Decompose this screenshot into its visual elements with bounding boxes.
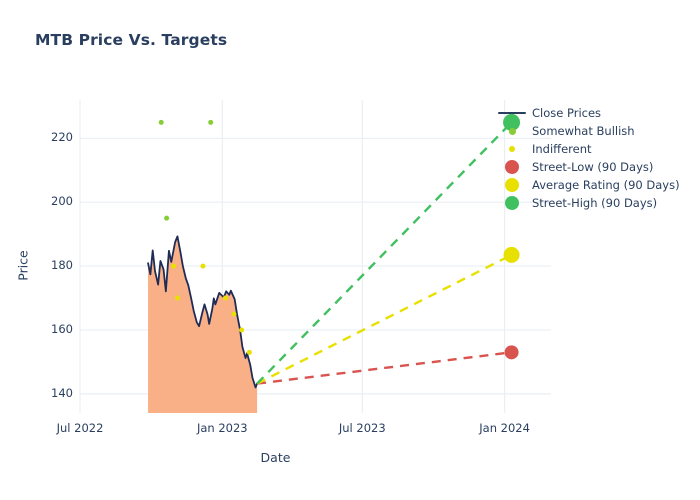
chart-container: MTB Price Vs. Targets 140160180200220 Ju…	[0, 0, 700, 500]
legend-item-label: Street-Low (90 Days)	[528, 160, 653, 174]
x-axis-tick: Jan 2023	[162, 421, 282, 435]
legend-dot-icon	[505, 160, 519, 174]
legend-item[interactable]: Average Rating (90 Days)	[496, 176, 696, 194]
legend-item[interactable]: Somewhat Bullish	[496, 122, 696, 140]
rating-dot[interactable]	[208, 120, 213, 125]
y-axis-tick: 220	[20, 130, 73, 144]
y-axis-tick: 160	[20, 322, 73, 336]
y-axis-tick: 140	[20, 386, 73, 400]
legend-item-label: Indifferent	[528, 142, 592, 156]
x-axis-tick: Jul 2022	[20, 421, 140, 435]
legend-item-label: Average Rating (90 Days)	[528, 178, 680, 192]
rating-dot[interactable]	[231, 311, 236, 316]
legend-item[interactable]: Street-High (90 Days)	[496, 194, 696, 212]
x-axis-tick: Jan 2024	[445, 421, 565, 435]
rating-dot[interactable]	[200, 264, 205, 269]
rating-dot[interactable]	[171, 264, 176, 269]
legend-dot-symbol	[496, 196, 528, 210]
legend-dot-icon	[509, 128, 516, 135]
rating-dot[interactable]	[247, 350, 252, 355]
rating-dot[interactable]	[223, 296, 228, 301]
legend-item-label: Street-High (90 Days)	[528, 196, 657, 210]
legend-dot-icon	[505, 178, 519, 192]
legend-item-label: Close Prices	[528, 106, 601, 120]
legend-dot-icon	[509, 146, 515, 152]
legend-dot-symbol	[496, 178, 528, 192]
target-marker[interactable]	[504, 247, 520, 263]
legend-dot-icon	[505, 196, 519, 210]
legend-item[interactable]: Street-Low (90 Days)	[496, 158, 696, 176]
legend-item[interactable]: Indifferent	[496, 140, 696, 158]
rating-dot[interactable]	[164, 216, 169, 221]
rating-dot[interactable]	[239, 327, 244, 332]
chart-legend: Close PricesSomewhat BullishIndifferentS…	[496, 104, 696, 212]
legend-item-label: Somewhat Bullish	[528, 124, 635, 138]
close-prices-area	[148, 236, 257, 413]
target-marker[interactable]	[505, 345, 519, 359]
y-axis-title: Price	[16, 226, 31, 306]
rating-dot[interactable]	[175, 296, 180, 301]
legend-dot-symbol	[496, 146, 528, 152]
legend-dot-symbol	[496, 128, 528, 135]
target-dashed-line	[257, 122, 511, 383]
y-axis-tick: 200	[20, 194, 73, 208]
x-axis-title: Date	[0, 450, 551, 465]
rating-dot[interactable]	[159, 120, 164, 125]
legend-item[interactable]: Close Prices	[496, 104, 696, 122]
target-dashed-line	[257, 255, 511, 384]
legend-line-icon	[498, 112, 526, 115]
legend-line-symbol	[496, 112, 528, 115]
series-layer	[148, 114, 520, 413]
legend-dot-symbol	[496, 160, 528, 174]
x-axis-tick: Jul 2023	[302, 421, 422, 435]
target-dashed-line	[257, 352, 511, 383]
